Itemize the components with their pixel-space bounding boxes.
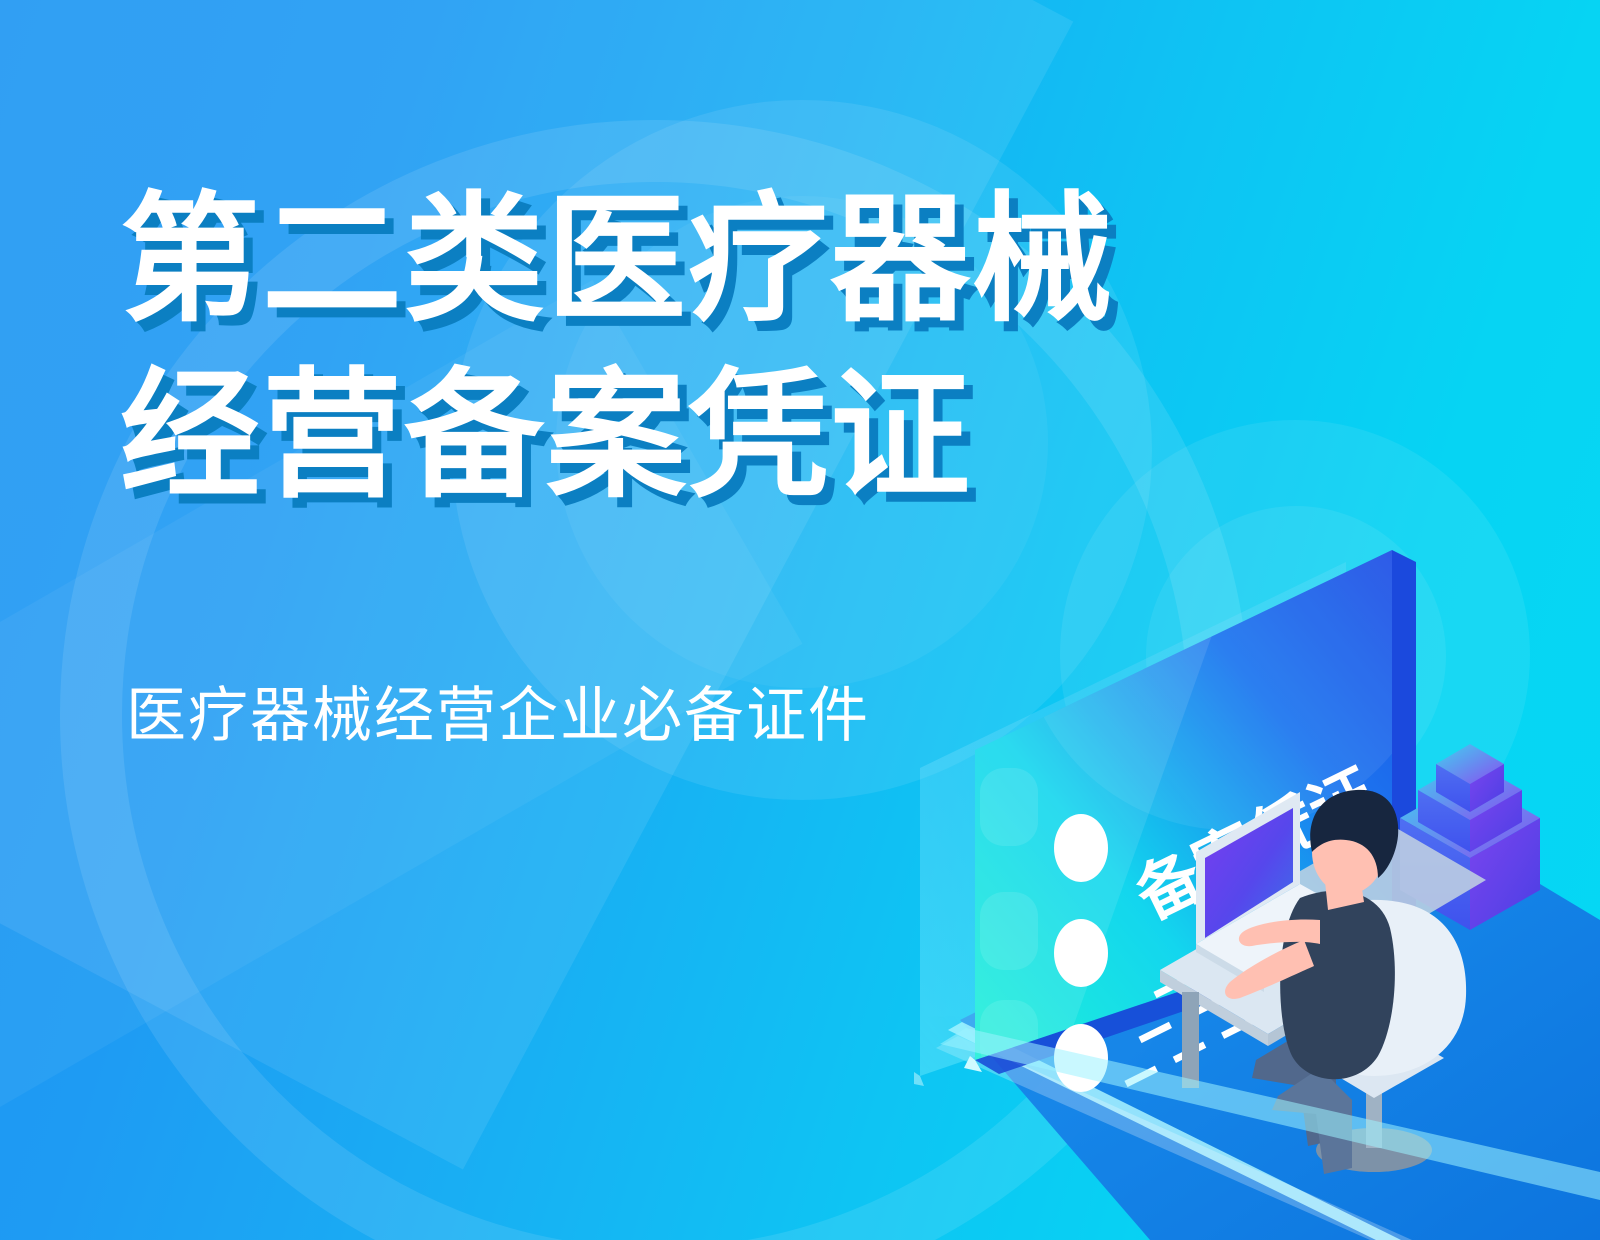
page-subtitle: 医疗器械经营企业必备证件: [126, 680, 870, 752]
page-title: 第二类医疗器械 经营备案凭证: [120, 172, 1114, 524]
panel-bullet-1: [1054, 814, 1108, 882]
page-title-line-1: 第二类医疗器械: [120, 172, 1114, 348]
hero-illustration: 备案凭证: [900, 500, 1600, 1240]
poster-canvas: 第二类医疗器械 经营备案凭证 医疗器械经营企业必备证件: [0, 0, 1600, 1240]
desk-leg-left: [1182, 992, 1199, 1088]
page-title-line-2: 经营备案凭证: [120, 348, 1114, 524]
panel-bullet-2: [1054, 919, 1108, 987]
person-torso: [1280, 891, 1395, 1080]
